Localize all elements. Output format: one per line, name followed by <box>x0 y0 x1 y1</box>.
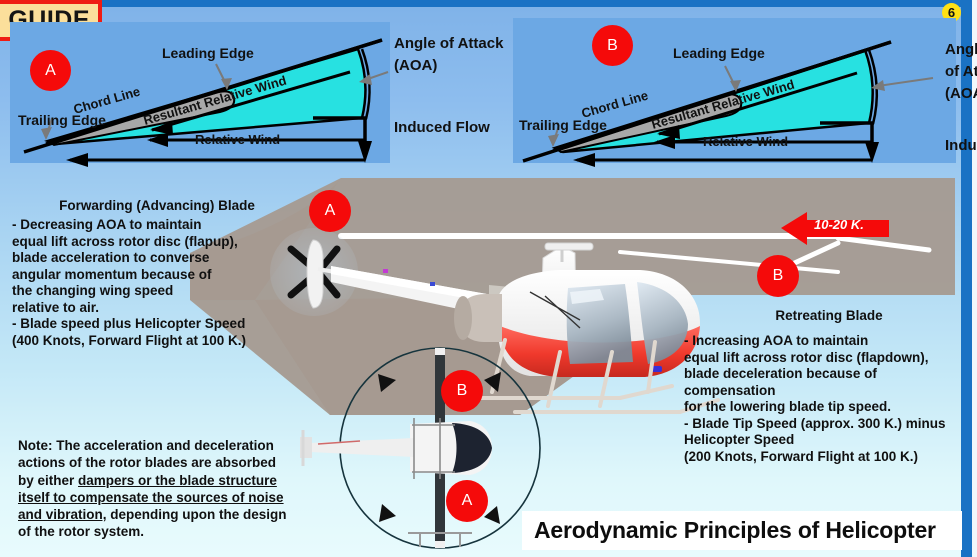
panel-b-chord-line-label: Chord Line <box>580 88 650 121</box>
note-line: and vibration, depending upon the design <box>18 506 318 523</box>
retreating-line: - Increasing AOA to maintain <box>684 333 974 349</box>
note-line: of the rotor system. <box>18 523 318 540</box>
advancing-line: the changing wing speed <box>12 283 302 299</box>
panel-b-aoa-label-3: (AOA) <box>945 85 977 102</box>
marker-a-rotor-tip: A <box>309 190 351 232</box>
panel-b-relative-wind-label: Relative Wind <box>703 134 788 149</box>
slide-canvas: GUIDE 6 <box>0 0 977 557</box>
panel-a-chord-line-label: Chord Line <box>72 84 142 117</box>
advancing-blade-heading: Forwarding (Advancing) Blade <box>12 198 302 214</box>
wind-speed-arrow: 10-20 K. <box>781 209 889 252</box>
retreating-line: compensation <box>684 383 974 399</box>
retreating-line: for the lowering blade tip speed. <box>684 399 974 415</box>
retreating-line: blade deceleration because of <box>684 366 974 382</box>
marker-b-disc: B <box>441 370 483 412</box>
retreating-line: Helicopter Speed <box>684 432 974 448</box>
marker-a-disc: A <box>446 480 488 522</box>
retreating-blade-heading: Retreating Blade <box>684 308 974 324</box>
note-line: actions of the rotor blades are absorbed <box>18 454 318 471</box>
panel-a-trailing-edge-label: Trailing Edge <box>18 112 106 128</box>
panel-a-marker: A <box>30 50 71 91</box>
marker-b-rotor-tip: B <box>757 255 799 297</box>
retreating-line: - Blade Tip Speed (approx. 300 K.) minus <box>684 416 974 432</box>
panel-b-trailing-edge-label: Trailing Edge <box>519 117 607 133</box>
airfoil-panel-b: Leading Edge Trailing Edge Chord Line Re… <box>513 18 956 163</box>
page-title: Aerodynamic Principles of Helicopter <box>534 517 936 544</box>
top-accent-bar <box>0 0 977 7</box>
panel-b-marker: B <box>592 25 633 66</box>
retreating-blade-text: Retreating Blade - Increasing AOA to mai… <box>684 308 974 465</box>
advancing-line: blade acceleration to converse <box>12 250 302 266</box>
panel-b-aoa-label-1: Angle <box>945 41 977 58</box>
advancing-line: relative to air. <box>12 300 302 316</box>
panel-a-leading-edge-label: Leading Edge <box>162 45 254 61</box>
panel-a-aoa-label-1: Angle of Attack <box>394 35 504 52</box>
note-line: by either dampers or the blade structure <box>18 472 318 489</box>
note-text-block: Note: The acceleration and deceleration … <box>18 437 318 541</box>
advancing-line: - Blade speed plus Helicopter Speed <box>12 316 302 332</box>
advancing-blade-text: Forwarding (Advancing) Blade - Decreasin… <box>12 198 302 349</box>
panel-b-aoa-label-2: of Attack <box>945 63 977 80</box>
note-line: Note: The acceleration and deceleration <box>18 437 318 454</box>
slide-title-plate: Aerodynamic Principles of Helicopter <box>522 511 962 550</box>
panel-a-aoa-label-2: (AOA) <box>394 57 437 74</box>
retreating-line: (200 Knots, Forward Flight at 100 K.) <box>684 449 974 465</box>
advancing-line: equal lift across rotor disc (flapup), <box>12 234 302 250</box>
note-line: itself to compensate the sources of nois… <box>18 489 318 506</box>
advancing-line: (400 Knots, Forward Flight at 100 K.) <box>12 333 302 349</box>
retreating-line: equal lift across rotor disc (flapdown), <box>684 350 974 366</box>
panel-b-induced-flow-label: Induced Flow <box>945 137 977 154</box>
panel-a-induced-flow-label: Induced Flow <box>394 119 490 136</box>
wind-speed-label: 10-20 K. <box>814 217 864 232</box>
panel-b-leading-edge-label: Leading Edge <box>673 45 765 61</box>
advancing-line: angular momentum because of <box>12 267 302 283</box>
panel-a-relative-wind-label: Relative Wind <box>195 132 280 147</box>
airfoil-panel-a: Leading Edge Trailing Edge Chord Line Re… <box>10 22 390 163</box>
advancing-line: - Decreasing AOA to maintain <box>12 217 302 233</box>
